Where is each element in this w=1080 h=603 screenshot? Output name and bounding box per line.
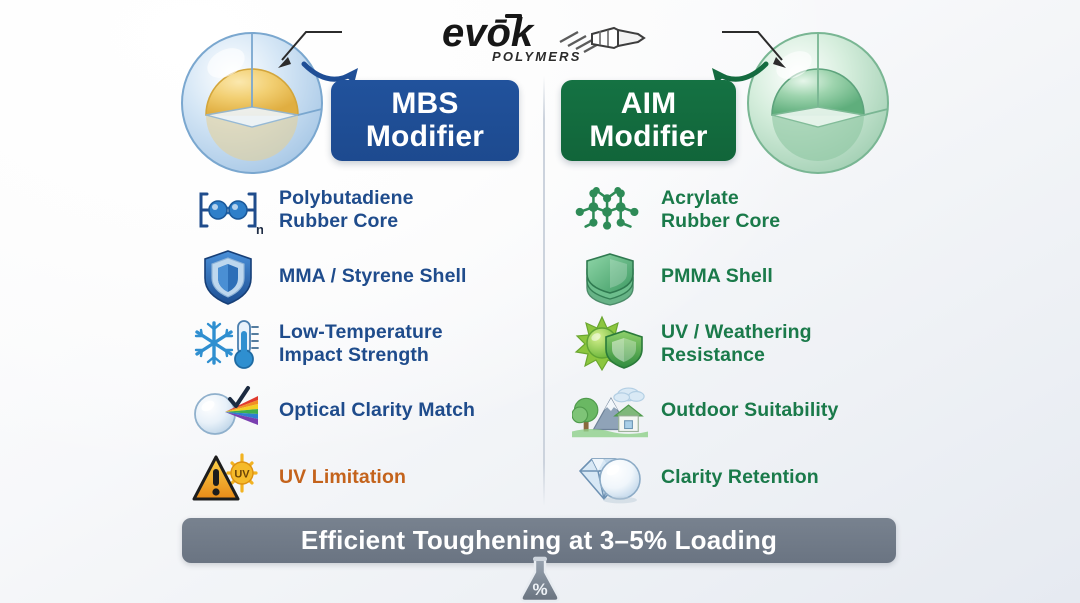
svg-text:UV: UV xyxy=(234,468,250,480)
svg-text:n: n xyxy=(256,222,263,237)
feature-row-optical-clarity-match: Optical Clarity Match xyxy=(190,377,620,444)
feature-label-line1: MMA / Styrene Shell xyxy=(279,265,467,288)
feature-row-pmma-shell: PMMA Shell xyxy=(572,243,1002,310)
feature-label-line1: UV / Weathering xyxy=(661,321,812,344)
feature-row-clarity-retention: Clarity Retention xyxy=(572,444,1002,511)
feature-list-mbs: n Polybutadiene Rubber Core xyxy=(190,176,620,511)
feature-label-line1: Low-Temperature xyxy=(279,321,443,344)
feature-row-uv-limitation: UV UV Limitation xyxy=(190,444,620,511)
banner-text: Efficient Toughening at 3–5% Loading xyxy=(301,525,777,556)
feature-label-line1: Acrylate xyxy=(661,187,780,210)
feature-row-polybutadiene-rubber-core: n Polybutadiene Rubber Core xyxy=(190,176,620,243)
feature-label-line1: Optical Clarity Match xyxy=(279,399,475,422)
shield-icon xyxy=(190,246,266,308)
feature-label-line1: PMMA Shell xyxy=(661,265,773,288)
badge-aim-line2: Modifier xyxy=(589,121,707,153)
feature-label-line1: Outdoor Suitability xyxy=(661,399,838,422)
feature-list-aim: Acrylate Rubber Core xyxy=(572,176,1002,511)
feature-label: Clarity Retention xyxy=(648,466,819,489)
polymer-repeat-unit-icon: n xyxy=(190,179,266,241)
diamond-sphere-icon xyxy=(572,447,648,509)
feature-label: Low-Temperature Impact Strength xyxy=(266,321,443,367)
layered-shield-icon xyxy=(572,246,648,308)
prism-rainbow-icon xyxy=(190,380,266,442)
feature-label: Acrylate Rubber Core xyxy=(648,187,780,233)
badge-mbs-modifier[interactable]: MBS Modifier xyxy=(331,80,519,161)
badge-mbs-line2: Modifier xyxy=(366,121,484,153)
feature-label: Outdoor Suitability xyxy=(648,399,838,422)
feature-label: UV Limitation xyxy=(266,466,406,489)
feature-row-uv-weathering-resistance: UV / Weathering Resistance xyxy=(572,310,1002,377)
svg-text:%: % xyxy=(532,580,547,599)
feature-row-mma-styrene-shell: MMA / Styrene Shell xyxy=(190,243,620,310)
feature-label-line2: Impact Strength xyxy=(279,344,443,367)
uv-warning-icon: UV xyxy=(190,447,266,509)
feature-row-low-temperature-impact-strength: Low-Temperature Impact Strength xyxy=(190,310,620,377)
feature-label-line1: Polybutadiene xyxy=(279,187,414,210)
feature-label-line2: Resistance xyxy=(661,344,812,367)
flask-percent-icon: % xyxy=(514,556,566,603)
badge-aim-modifier[interactable]: AIM Modifier xyxy=(561,80,736,161)
feature-label-line2: Rubber Core xyxy=(279,210,414,233)
feature-label-line1: UV Limitation xyxy=(279,466,406,489)
feature-row-outdoor-suitability: Outdoor Suitability xyxy=(572,377,1002,444)
feature-row-acrylate-rubber-core: Acrylate Rubber Core xyxy=(572,176,1002,243)
feature-label: MMA / Styrene Shell xyxy=(266,265,467,288)
feature-label-line2: Rubber Core xyxy=(661,210,780,233)
evok-polymers-logo: evōk POLYMERS xyxy=(432,6,662,64)
sun-shield-icon xyxy=(572,313,648,375)
feature-label: UV / Weathering Resistance xyxy=(648,321,812,367)
feature-label: PMMA Shell xyxy=(648,265,773,288)
outdoor-landscape-icon xyxy=(572,380,648,442)
feature-label-line1: Clarity Retention xyxy=(661,466,819,489)
badge-mbs-line1: MBS xyxy=(391,88,458,120)
molecular-network-icon xyxy=(572,179,648,241)
infographic-canvas: evōk POLYMERS xyxy=(0,0,1080,603)
snowflake-thermometer-icon xyxy=(190,313,266,375)
feature-label: Optical Clarity Match xyxy=(266,399,475,422)
feature-label: Polybutadiene Rubber Core xyxy=(266,187,414,233)
logo-subtext: POLYMERS xyxy=(492,49,582,64)
badge-aim-line1: AIM xyxy=(621,88,677,120)
